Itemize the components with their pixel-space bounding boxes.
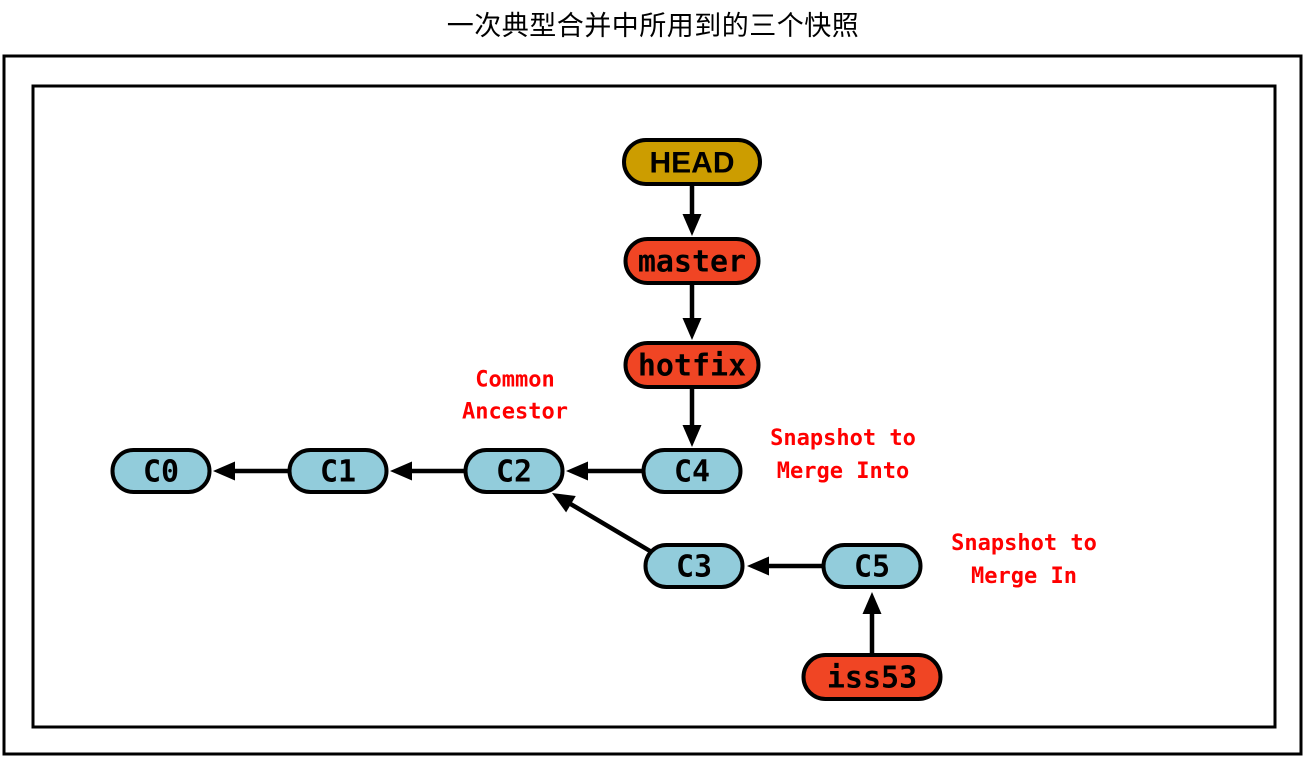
node-iss53[interactable]: iss53 [804,655,941,699]
edge-hotfix-to-c4 [683,389,702,447]
node-label-c4: C4 [674,455,710,490]
annotation-snapshot-merge-in: Snapshot toMerge In [951,531,1097,589]
node-label-c2: C2 [496,455,532,490]
arrow-head [566,462,588,481]
annotation-line: Merge Into [777,459,909,484]
node-c5[interactable]: C5 [824,545,921,587]
annotation-line: Common [475,368,554,393]
annotation-common-ancestor: CommonAncestor [462,368,568,425]
node-c2[interactable]: C2 [466,450,563,492]
annotation-line: Merge In [971,564,1077,589]
arrow-head [747,557,769,576]
arrow-head [213,462,235,481]
node-head[interactable]: HEAD [624,140,760,184]
node-label-c5: C5 [854,550,890,585]
edge-c5-to-c3 [747,557,822,576]
edge-iss53-to-c5 [863,592,882,653]
node-c3[interactable]: C3 [646,545,743,587]
annotation-line: Snapshot to [770,426,916,451]
arrow-head [863,592,882,614]
edge-c1-to-c0 [213,462,288,481]
arrow-head [683,318,702,340]
node-label-master: master [638,245,746,280]
edge-c3-to-c2 [552,493,650,551]
node-label-iss53: iss53 [827,661,917,696]
annotation-line: Ancestor [462,400,568,425]
annotation-snapshot-merge-into: Snapshot toMerge Into [770,426,916,484]
edge-line [567,502,650,551]
arrow-head [683,214,702,236]
edge-master-to-hotfix [683,285,702,340]
node-hotfix[interactable]: hotfix [626,343,759,387]
edge-c2-to-c1 [390,462,464,481]
node-c4[interactable]: C4 [644,450,741,492]
arrow-head [683,425,702,447]
node-label-c0: C0 [143,455,179,490]
arrow-head [390,462,412,481]
node-label-c3: C3 [676,550,712,585]
node-label-head: HEAD [649,147,734,180]
git-merge-diagram: HEADmasterhotfixiss53C0C1C2C4C3C5 Common… [0,0,1306,760]
node-c0[interactable]: C0 [113,450,210,492]
edge-head-to-master [683,186,702,236]
node-label-c1: C1 [320,455,356,490]
edge-c4-to-c2 [566,462,642,481]
annotation-line: Snapshot to [951,531,1097,556]
node-c1[interactable]: C1 [290,450,387,492]
node-master[interactable]: master [626,239,759,283]
node-label-hotfix: hotfix [638,349,746,384]
diagram-page: 一次典型合并中所用到的三个快照 HEADmasterhotfixiss53C0C… [0,0,1306,760]
